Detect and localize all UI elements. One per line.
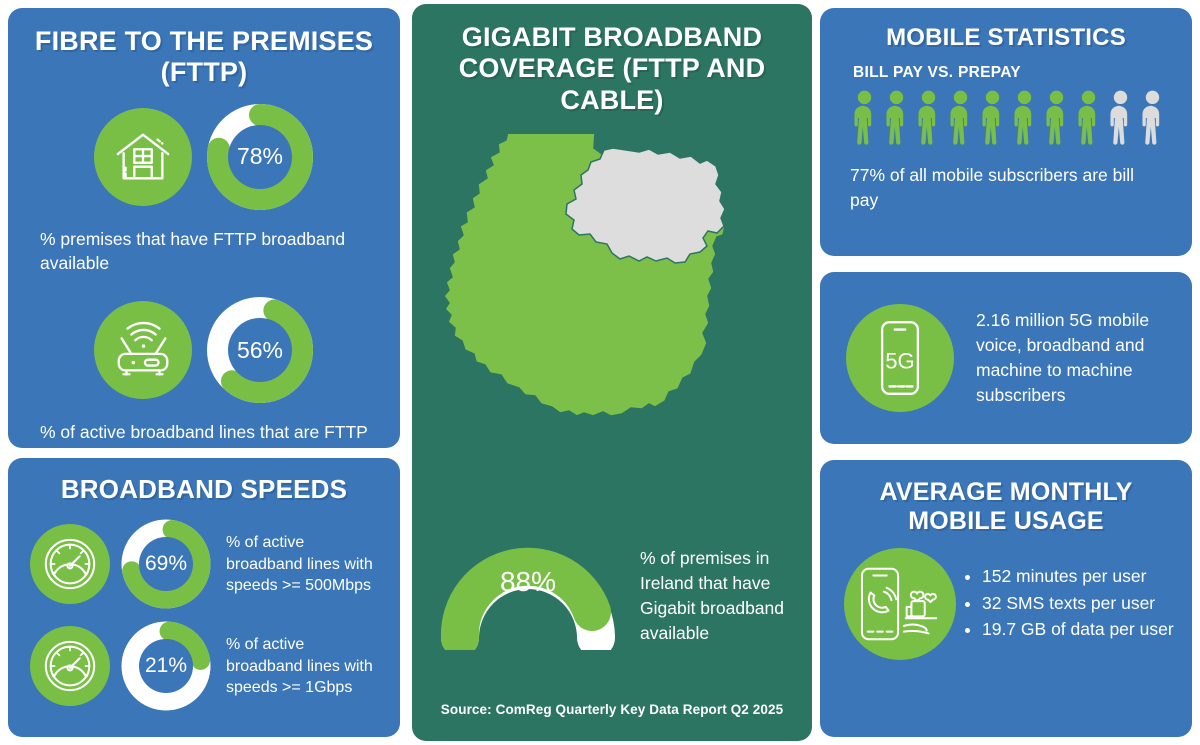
person-icon — [946, 90, 975, 151]
donut-speed-500mbps-value: 69% — [145, 552, 187, 576]
fttp-stat-row-2: 56% — [8, 296, 400, 404]
donut-speed-1gbps-center: 21% — [139, 639, 193, 693]
infographic-canvas: FIBRE TO THE PREMISES (FTTP) — [0, 0, 1200, 745]
phone-engagement-icon — [844, 548, 956, 660]
panel-gigabit-coverage: GIGABIT BROADBAND COVERAGE (FTTP AND CAB… — [412, 4, 812, 741]
panel-map-title: GIGABIT BROADBAND COVERAGE (FTTP AND CAB… — [412, 4, 812, 116]
speeds-stat-row-2: 21% % of active broadband lines with spe… — [8, 610, 400, 712]
panel-fttp: FIBRE TO THE PREMISES (FTTP) — [8, 8, 400, 448]
usage-bullet-list: 152 minutes per user32 SMS texts per use… — [956, 564, 1174, 644]
speeds-stat-row-1: 69% % of active broadband lines with spe… — [8, 504, 400, 610]
gauge-gigabit: 88% — [430, 542, 626, 650]
fttp-caption-1: % premises that have FTTP broadband avai… — [8, 211, 400, 277]
usage-bullet: 152 minutes per user — [982, 564, 1174, 590]
donut-fttp-lines: 56% — [206, 296, 314, 404]
phone-5g-icon: 5G — [846, 304, 954, 412]
gauge-gigabit-row: 88% % of premises in Ireland that have G… — [430, 542, 798, 650]
panel-broadband-speeds: BROADBAND SPEEDS — [8, 458, 400, 737]
person-icon — [1074, 90, 1103, 151]
panel-mobile-statistics: MOBILE STATISTICS BILL PAY VS. PREPAY 77… — [820, 8, 1192, 256]
ireland-map — [412, 134, 812, 534]
panel-usage-title: AVERAGE MONTHLY MOBILE USAGE — [820, 460, 1192, 536]
speedometer-icon — [30, 626, 110, 706]
donut-fttp-available: 78% — [206, 103, 314, 211]
gauge-gigabit-caption: % of premises in Ireland that have Gigab… — [640, 546, 798, 645]
donut-speed-500mbps: 69% — [120, 518, 212, 610]
person-icon — [1106, 90, 1135, 151]
person-icon — [978, 90, 1007, 151]
person-icon — [850, 90, 879, 151]
donut-speed-1gbps-value: 21% — [145, 654, 187, 678]
usage-row: 152 minutes per user32 SMS texts per use… — [820, 536, 1192, 660]
usage-bullet: 32 SMS texts per user — [982, 591, 1174, 617]
fiveg-caption: 2.16 million 5G mobile voice, broadband … — [954, 308, 1174, 407]
panel-5g-subscribers: 5G 2.16 million 5G mobile voice, broadba… — [820, 272, 1192, 444]
panel-average-monthly-usage: AVERAGE MONTHLY MOBILE USAGE — [820, 460, 1192, 737]
person-icon — [882, 90, 911, 151]
person-icon — [914, 90, 943, 151]
panel-mobile-title: MOBILE STATISTICS — [820, 8, 1192, 52]
donut-fttp-lines-center: 56% — [228, 318, 292, 382]
panel-mobile-caption: 77% of all mobile subscribers are bill p… — [820, 151, 1192, 213]
pictogram-bill-pay-vs-prepay — [820, 82, 1192, 151]
fttp-stat-row-1: 78% — [8, 103, 400, 211]
speeds-caption-1: % of active broadband lines with speeds … — [226, 532, 378, 595]
speeds-caption-2: % of active broadband lines with speeds … — [226, 634, 378, 697]
panel-speeds-title: BROADBAND SPEEDS — [8, 458, 400, 504]
source-note: Source: ComReg Quarterly Key Data Report… — [412, 702, 812, 717]
gauge-gigabit-value: 88% — [430, 566, 626, 598]
panel-mobile-subtitle: BILL PAY VS. PREPAY — [820, 52, 1192, 82]
speedometer-icon — [30, 524, 110, 604]
router-icon — [94, 301, 192, 399]
person-icon — [1042, 90, 1071, 151]
panel-fttp-title: FIBRE TO THE PREMISES (FTTP) — [8, 8, 400, 89]
usage-bullet: 19.7 GB of data per user — [982, 617, 1174, 643]
house-icon — [94, 108, 192, 206]
donut-fttp-available-center: 78% — [228, 125, 292, 189]
donut-fttp-lines-value: 56% — [237, 337, 283, 364]
donut-speed-500mbps-center: 69% — [139, 537, 193, 591]
donut-speed-1gbps: 21% — [120, 620, 212, 712]
person-icon — [1138, 90, 1167, 151]
svg-text:5G: 5G — [885, 349, 914, 374]
fiveg-row: 5G 2.16 million 5G mobile voice, broadba… — [820, 272, 1192, 444]
person-icon — [1010, 90, 1039, 151]
donut-fttp-available-value: 78% — [237, 143, 283, 170]
